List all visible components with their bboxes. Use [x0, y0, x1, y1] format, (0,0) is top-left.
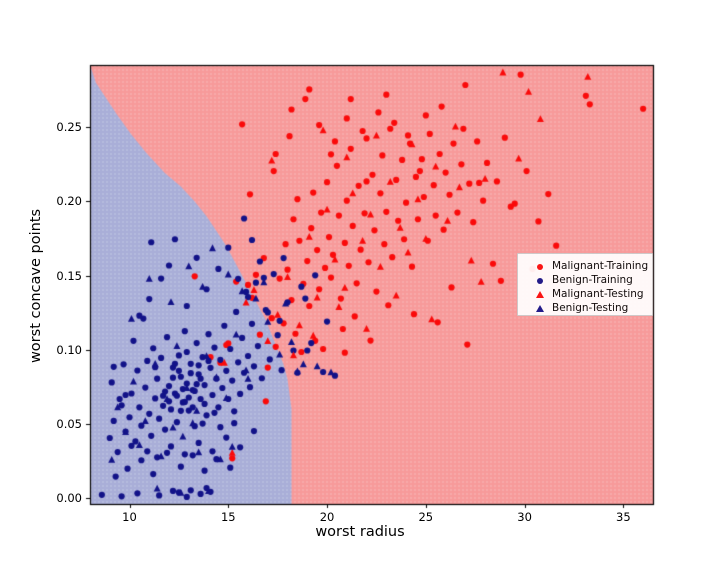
x-axis-label: worst radius — [0, 524, 720, 540]
x-tick-label: 10 — [105, 510, 155, 524]
legend-triangle-icon — [534, 301, 546, 316]
y-tick-label: 0.25 — [36, 120, 82, 134]
x-tick-label: 30 — [500, 510, 550, 524]
legend-label: Benign-Testing — [552, 302, 628, 314]
x-tick-label: 20 — [302, 510, 352, 524]
legend-label: Benign-Training — [552, 274, 633, 286]
legend-circle-icon — [534, 273, 546, 288]
legend-label: Malignant-Training — [552, 260, 648, 272]
x-tick-label: 15 — [203, 510, 253, 524]
x-tick-label: 25 — [401, 510, 451, 524]
y-tick-label: 0.20 — [36, 194, 82, 208]
y-tick-label: 0.05 — [36, 417, 82, 431]
legend-item: Benign-Testing — [518, 301, 654, 316]
legend-circle-icon — [534, 259, 546, 274]
legend-label: Malignant-Testing — [552, 288, 644, 300]
legend-triangle-icon — [534, 287, 546, 302]
y-tick-label: 0.10 — [36, 343, 82, 357]
scatter-plot-figure: worst radius worst concave points 101520… — [0, 0, 720, 576]
legend-item: Benign-Training — [518, 273, 654, 288]
legend-item: Malignant-Training — [518, 259, 654, 274]
legend-item: Malignant-Testing — [518, 287, 654, 302]
y-tick-label: 0.15 — [36, 269, 82, 283]
y-tick-label: 0.00 — [36, 491, 82, 505]
x-tick-label: 35 — [598, 510, 648, 524]
legend: Malignant-TrainingBenign-TrainingMaligna… — [517, 253, 653, 316]
